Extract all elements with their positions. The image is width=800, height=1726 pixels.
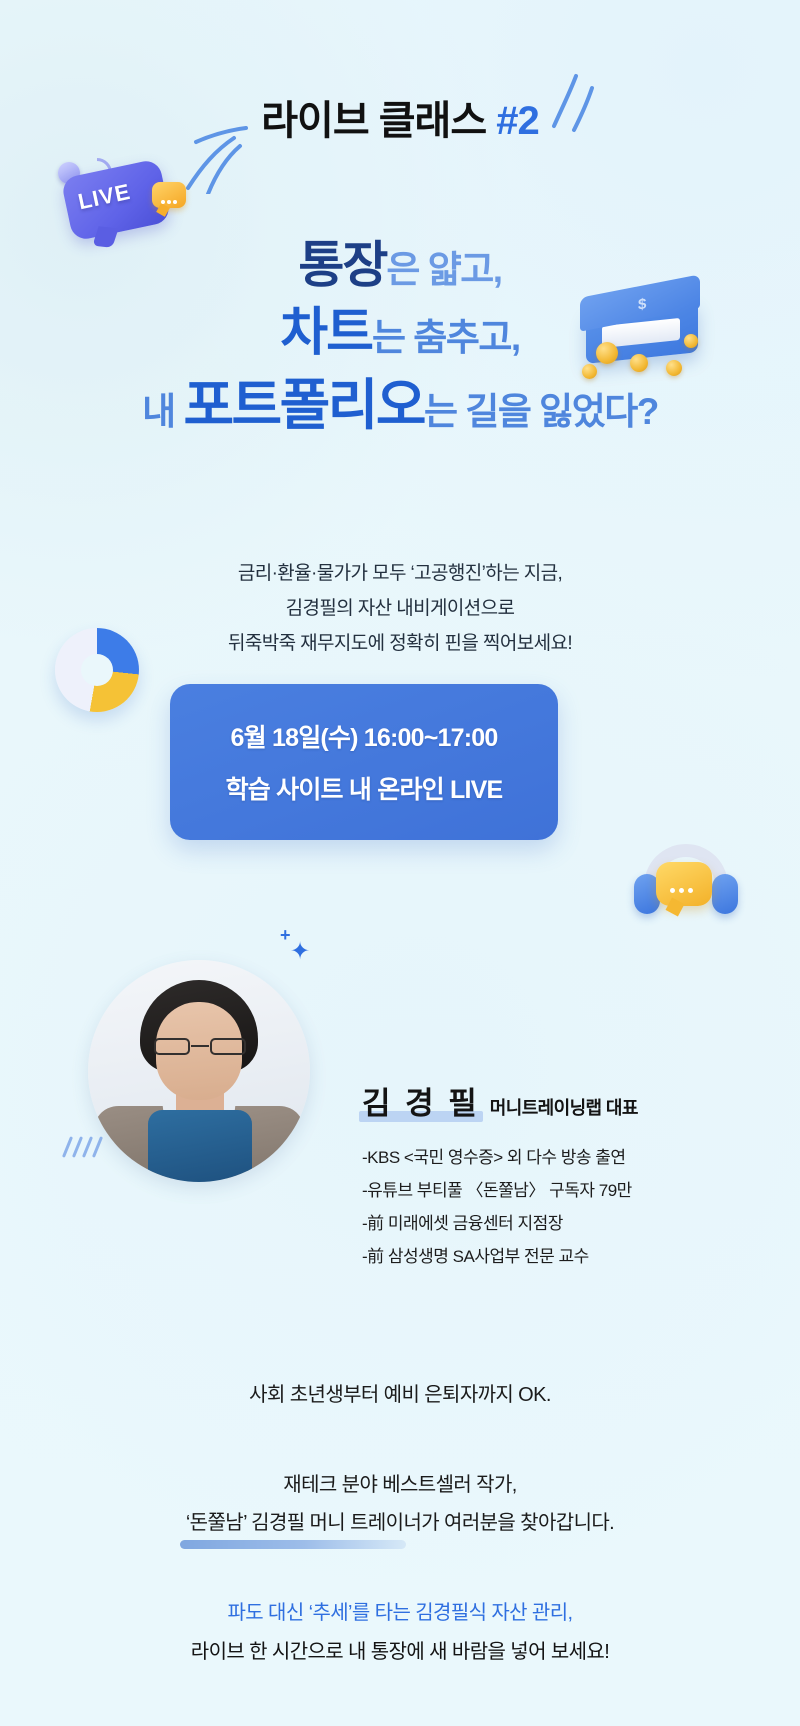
footer-line-2: 재테크 분야 베스트셀러 작가, [0,1466,800,1504]
wallet-icon: $ [580,272,712,384]
coin-icon [582,364,597,379]
schedule-datetime: 6월 18일(수) 16:00~17:00 [231,718,498,754]
page-title: 라이브 클래스 #2 [261,88,539,146]
headline-3-rest: 는 길을 잃었다? [424,391,658,432]
instructor-name-row: 김 경 필 머니트레이닝랩 대표 [362,1078,762,1123]
footer-line-4: 파도 대신 ‘추세’를 타는 김경필식 자산 관리, [0,1594,800,1633]
sparkle-icon: +✦ [280,925,291,946]
schedule-venue: 학습 사이트 내 온라인 LIVE [226,770,503,806]
speech-dots-icon [668,880,695,898]
chat-dots-icon [160,191,178,209]
footer-line-3: ‘돈쭐남’ 김경필 머니 트레이너가 여러분을 찾아갑니다. [0,1504,800,1542]
list-item: -前 삼성생명 SA사업부 전문 교수 [362,1240,762,1273]
instructor-avatar [88,960,310,1182]
footer-block-2: 재테크 분야 베스트셀러 작가, ‘돈쭐남’ 김경필 머니 트레이너가 여러분을… [0,1466,800,1542]
footer-line-3-rest: 트레이너가 여러분을 찾아갑니다. [345,1512,614,1534]
instructor-bio-list: -KBS <국민 영수증> 외 다수 방송 출연 -유튜브 부티풀 〈돈쭐남〉 … [362,1141,762,1274]
avatar-shirt [148,1110,252,1182]
headline-3-prefix: 내 [142,391,183,432]
page-title-main: 라이브 클래스 [261,99,486,143]
footer-line-1: 사회 초년생부터 예비 은퇴자까지 OK. [0,1378,800,1407]
promo-page: 라이브 클래스 #2 LIVE 통장은 얇고, 차트는 춤추고, 내 포트폴리오… [0,0,800,1726]
hatch-lines-decoration [66,1136,106,1163]
list-item: -유튜브 부티풀 〈돈쭐남〉 구독자 79만 [362,1174,762,1207]
headset-cup-right-shape [712,874,738,914]
subtitle-line-2: 김경필의 자산 내비게이션으로 [0,591,800,626]
subtitle-line-1: 금리·환율·물가가 모두 ‘고공행진’하는 지금, [0,556,800,591]
instructor-name: 김 경 필 [362,1078,480,1123]
footer-block-3: 파도 대신 ‘추세’를 타는 김경필식 자산 관리, 라이브 한 시간으로 내 … [0,1594,800,1672]
headline-1-strong: 통장 [298,237,386,293]
page-title-hash: #2 [496,99,539,143]
footer-line-3-brush: ‘돈쭐남’ 김경필 머니 [186,1504,345,1542]
instructor-role: 머니트레이닝랩 대표 [490,1094,638,1120]
wallet-currency-icon: $ [638,295,646,313]
list-item: -KBS <국민 영수증> 외 다수 방송 출연 [362,1141,762,1174]
headset-icon [628,838,744,932]
footer-line-5: 라이브 한 시간으로 내 통장에 새 바람을 넣어 보세요! [0,1633,800,1672]
header: 라이브 클래스 #2 [0,88,800,146]
list-item: -前 미래에셋 금융센터 지점장 [362,1207,762,1240]
headline-1-rest: 은 얇고, [386,249,501,290]
swoosh-left-icon [186,104,266,194]
donut-chart-icon [55,628,139,712]
coin-icon [684,334,698,348]
coin-icon [596,342,618,364]
coin-icon [666,360,682,376]
coin-icon [630,354,648,372]
schedule-info-box: 6월 18일(수) 16:00~17:00 학습 사이트 내 온라인 LIVE [170,684,558,840]
headline-2-rest: 는 춤추고, [372,317,520,358]
glasses-icon [154,1038,246,1055]
instructor-info: 김 경 필 머니트레이닝랩 대표 -KBS <국민 영수증> 외 다수 방송 출… [362,1078,762,1274]
headline-3-strong: 포트폴리오 [183,374,424,436]
headline-2-strong: 차트 [280,304,372,362]
